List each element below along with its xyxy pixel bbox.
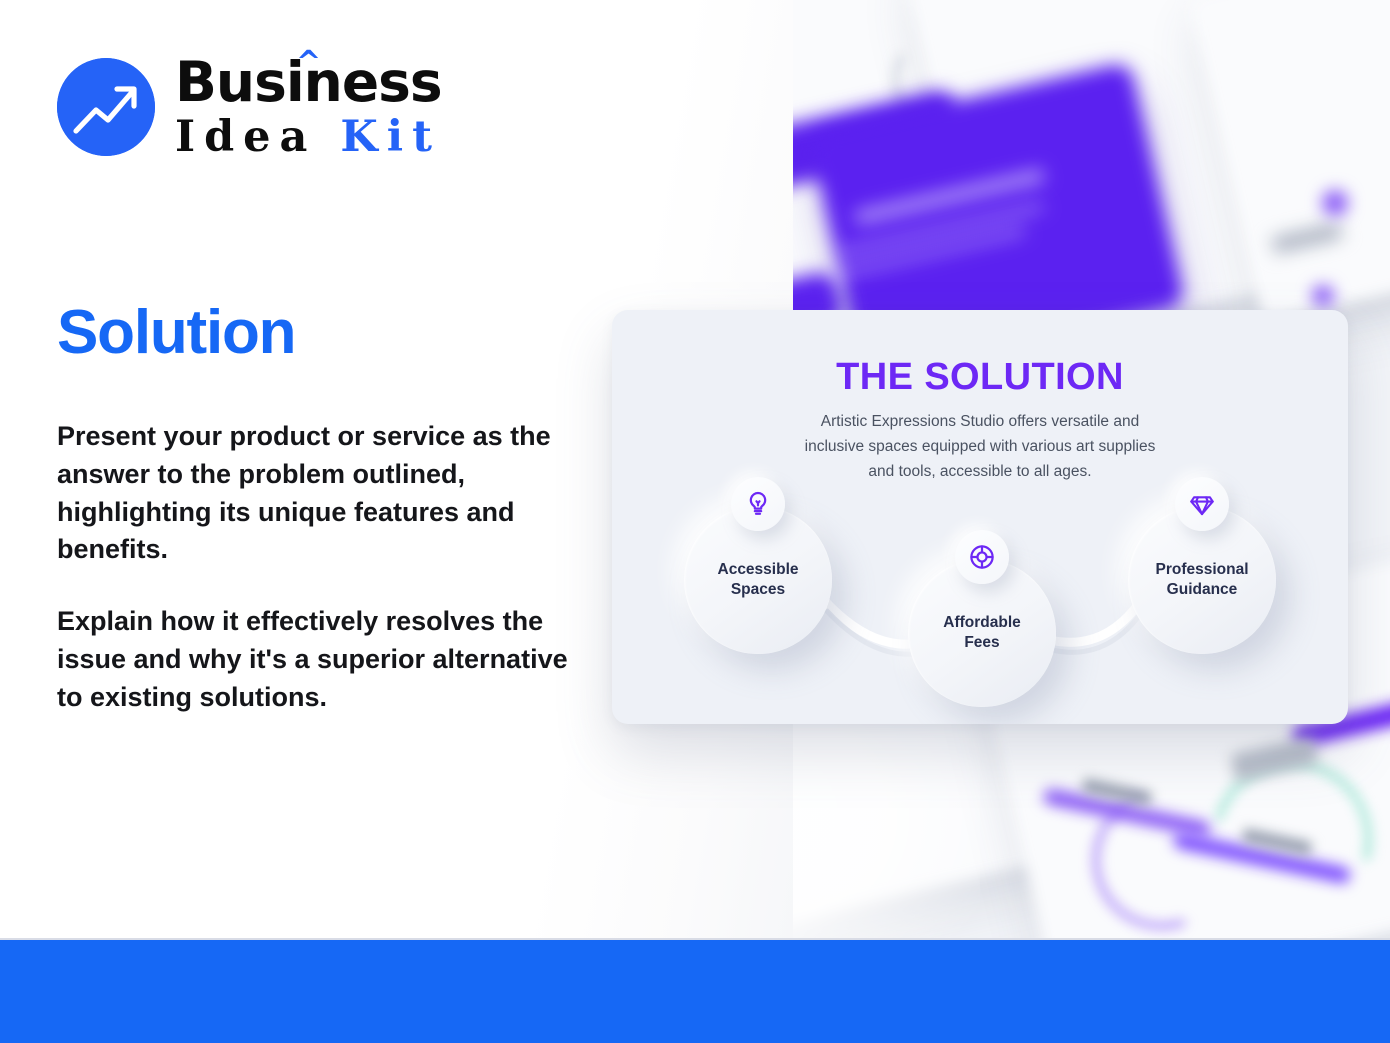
node-label: Accessible Spaces (718, 560, 799, 600)
brand-logo: Business ^ Idea Kit (57, 55, 442, 159)
node-label-line2: Guidance (1155, 580, 1248, 600)
node-label-line2: Spaces (718, 580, 799, 600)
lifebuoy-icon (955, 530, 1009, 584)
backdrop-dot (1312, 285, 1334, 307)
page-title: Solution (57, 297, 295, 368)
lightbulb-icon (731, 477, 785, 531)
solution-node-professional-guidance[interactable]: Professional Guidance (1128, 506, 1276, 654)
footer-band (0, 940, 1390, 1043)
node-label: Professional Guidance (1155, 560, 1248, 600)
node-label-line1: Professional (1155, 560, 1248, 580)
solution-node-affordable-fees[interactable]: Affordable Fees (908, 559, 1056, 707)
solution-card: THE SOLUTION Artistic Expressions Studio… (612, 310, 1348, 724)
body-copy: Present your product or service as the a… (57, 418, 587, 717)
node-label: Affordable Fees (943, 613, 1021, 653)
brand-name-line2: Idea Kit (175, 116, 442, 159)
solution-node-accessible-spaces[interactable]: Accessible Spaces (684, 506, 832, 654)
node-label-line1: Accessible (718, 560, 799, 580)
growth-arrow-chart-icon (57, 58, 155, 156)
backdrop-dot (1322, 190, 1348, 216)
diamond-icon (1175, 477, 1229, 531)
brand-name-idea: Idea (175, 112, 316, 162)
brand-name-line1: Business ^ (175, 55, 442, 110)
body-paragraph-2: Explain how it effectively resolves the … (57, 603, 587, 716)
brand-wordmark: Business ^ Idea Kit (175, 55, 442, 159)
node-label-line2: Fees (943, 633, 1021, 653)
body-paragraph-1: Present your product or service as the a… (57, 418, 587, 569)
node-label-line1: Affordable (943, 613, 1021, 633)
circumflex-accent-icon: ^ (296, 48, 320, 78)
brand-name-kit: Kit (340, 112, 441, 162)
slide-root: Business ^ Idea Kit Solution Present you… (0, 0, 1390, 1043)
